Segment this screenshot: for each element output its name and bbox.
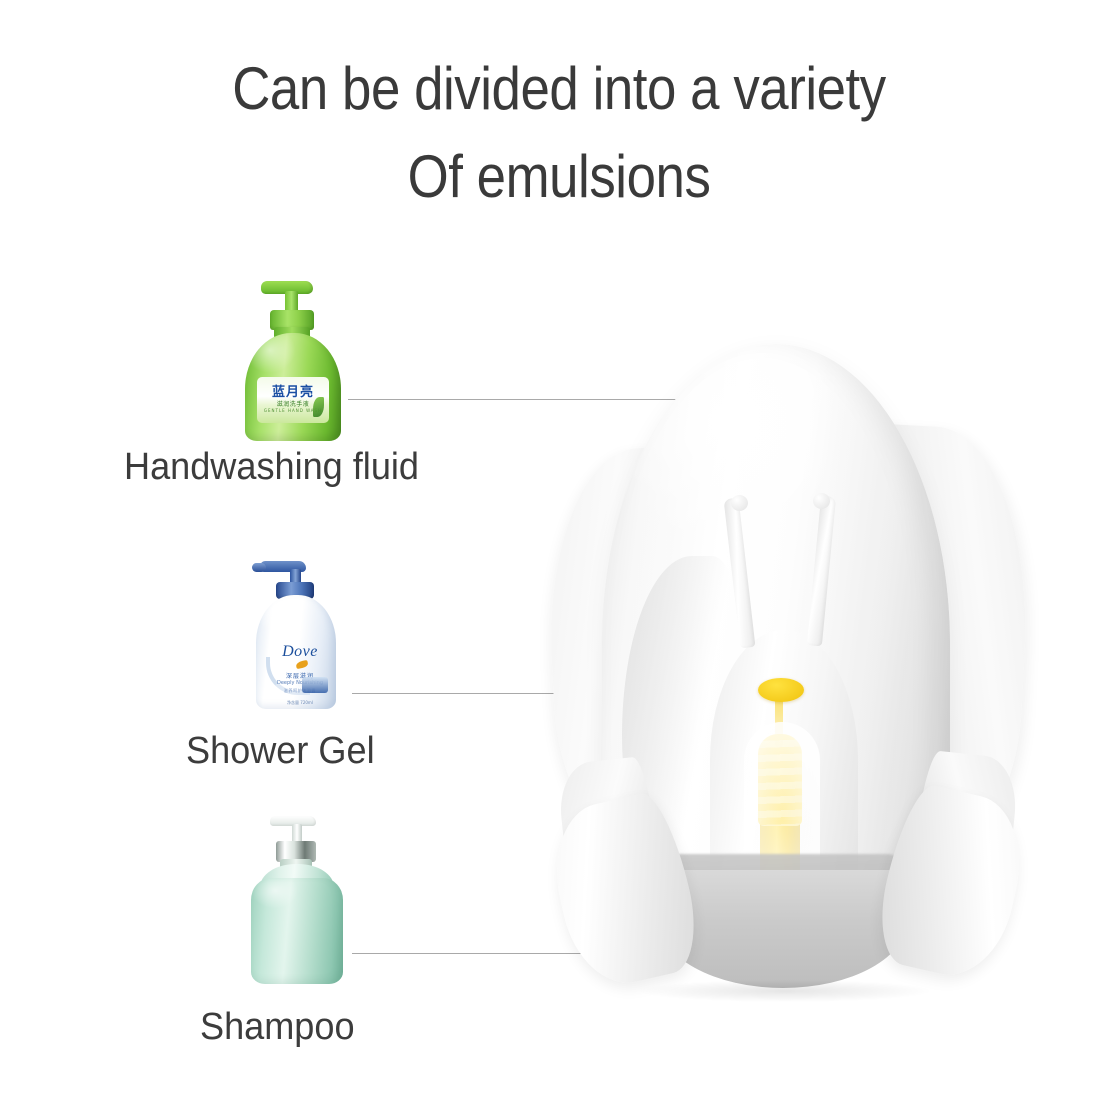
product-bottle-shower-gel: Dove 深层滋润 Deeply Nourishing 滋养呵护沐浴露 净含量 … (252, 559, 340, 711)
bottle-body: 蓝月亮 滋润洗手液 GENTLE HAND WASH (245, 333, 341, 441)
callout-label-shampoo: Shampoo (200, 1006, 355, 1049)
base-arch (658, 870, 908, 988)
infographic-canvas: Can be divided into a variety Of emulsio… (0, 0, 1118, 1118)
bottle-body (251, 878, 343, 984)
nozzle-drip (775, 696, 783, 748)
bottle-footer-text: 净含量 720ml (256, 700, 344, 706)
bottle-body: Dove 深层滋润 Deeply Nourishing 滋养呵护沐浴露 净含量 … (256, 595, 336, 709)
bottle-badge (302, 677, 328, 693)
headline-line-1: Can be divided into a variety (67, 52, 1051, 126)
bottle-subtitle-en2: 滋养呵护沐浴露 (256, 688, 344, 694)
bottle-subtitle-en: Deeply Nourishing (256, 680, 344, 686)
callout-label-handwashing-fluid: Handwashing fluid (124, 446, 419, 489)
ground-shadow (640, 980, 930, 1002)
pump-knob-icon (252, 563, 266, 572)
antenna-tip-right (813, 493, 830, 509)
bottle-label: 蓝月亮 滋润洗手液 GENTLE HAND WASH (257, 377, 329, 423)
bottle-brand-text: Dove (256, 643, 344, 661)
main-product-dispenser (548, 330, 1018, 1020)
nozzle-cap-icon (758, 678, 804, 702)
product-bottle-handwashing-fluid: 蓝月亮 滋润洗手液 GENTLE HAND WASH (243, 281, 347, 443)
headline-line-2: Of emulsions (67, 140, 1051, 214)
bottle-subtitle-cn: 深层滋润 (256, 671, 344, 680)
leaf-icon (313, 397, 324, 417)
antenna-tip-left (731, 495, 748, 511)
product-bottle-shampoo (248, 816, 346, 986)
page-title: Can be divided into a variety Of emulsio… (0, 52, 1118, 214)
callout-label-shower-gel: Shower Gel (186, 730, 375, 773)
